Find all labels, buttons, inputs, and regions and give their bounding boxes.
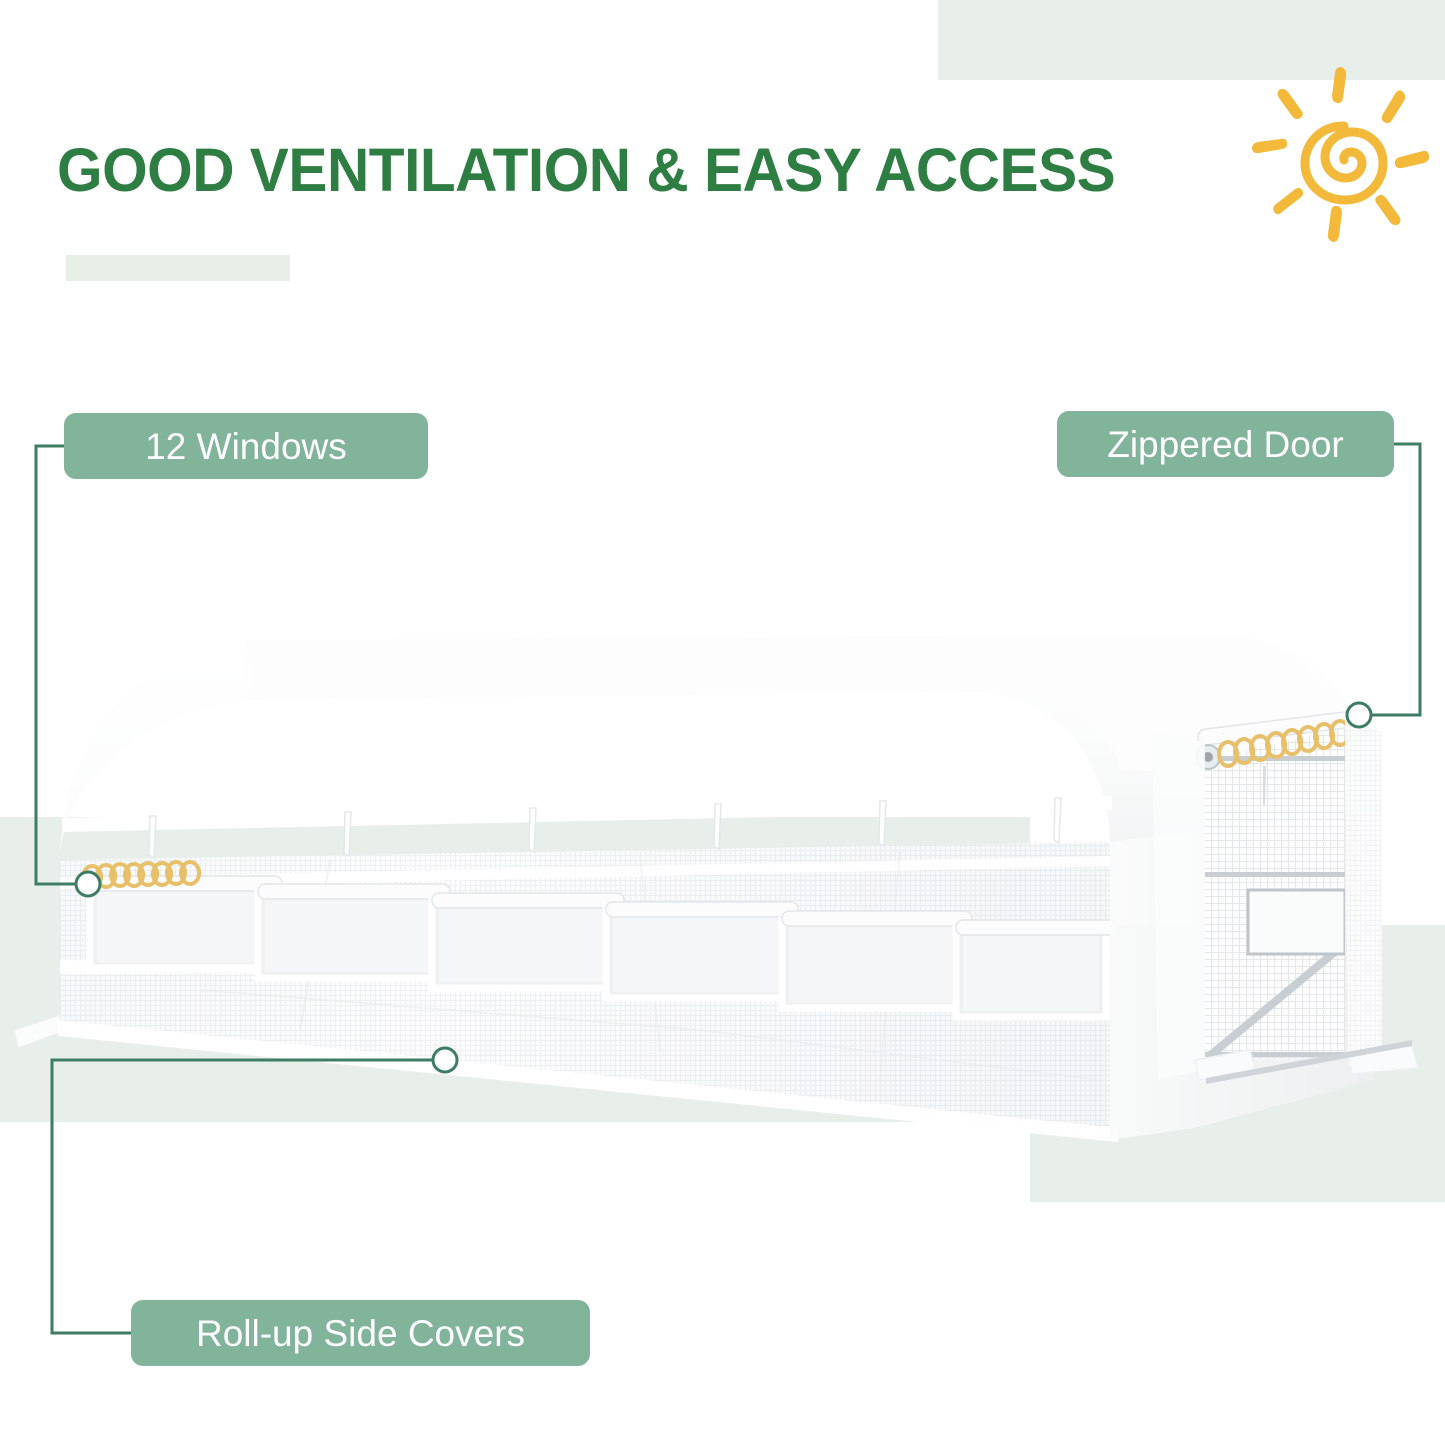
door-rail-middle: [1200, 872, 1355, 877]
side-window-1: [90, 876, 282, 968]
door-curtain-left: [1152, 730, 1205, 1080]
side-window-5: [782, 911, 972, 1008]
side-window-3: [432, 893, 624, 988]
callout-12-windows[interactable]: 12 Windows: [64, 413, 428, 479]
window-roll-tube-4: [606, 902, 798, 917]
window-roll-tube-2: [258, 884, 450, 899]
left-ground-flap: [14, 1015, 62, 1048]
side-window-6: [956, 920, 1118, 1017]
page-title: GOOD VENTILATION & EASY ACCESS: [57, 134, 1115, 206]
greenhouse-tunnel-illustration: [0, 560, 1445, 1200]
door-small-window: [1248, 890, 1345, 954]
sun-spiral-icon: [1248, 62, 1438, 247]
window-roll-tube-5: [782, 911, 972, 926]
window-roll-tube-6: [956, 920, 1118, 935]
roof-seam-band: [62, 796, 1112, 832]
infographic-canvas: GOOD VENTILATION & EASY ACCESS: [0, 0, 1445, 1445]
window-roll-tube-3: [432, 893, 624, 908]
callout-roll-up-side-covers[interactable]: Roll-up Side Covers: [131, 1300, 590, 1366]
title-accent-bar: [66, 255, 290, 281]
side-window-2: [258, 884, 450, 978]
side-window-4: [606, 902, 798, 998]
callout-zippered-door[interactable]: Zippered Door: [1057, 411, 1394, 477]
